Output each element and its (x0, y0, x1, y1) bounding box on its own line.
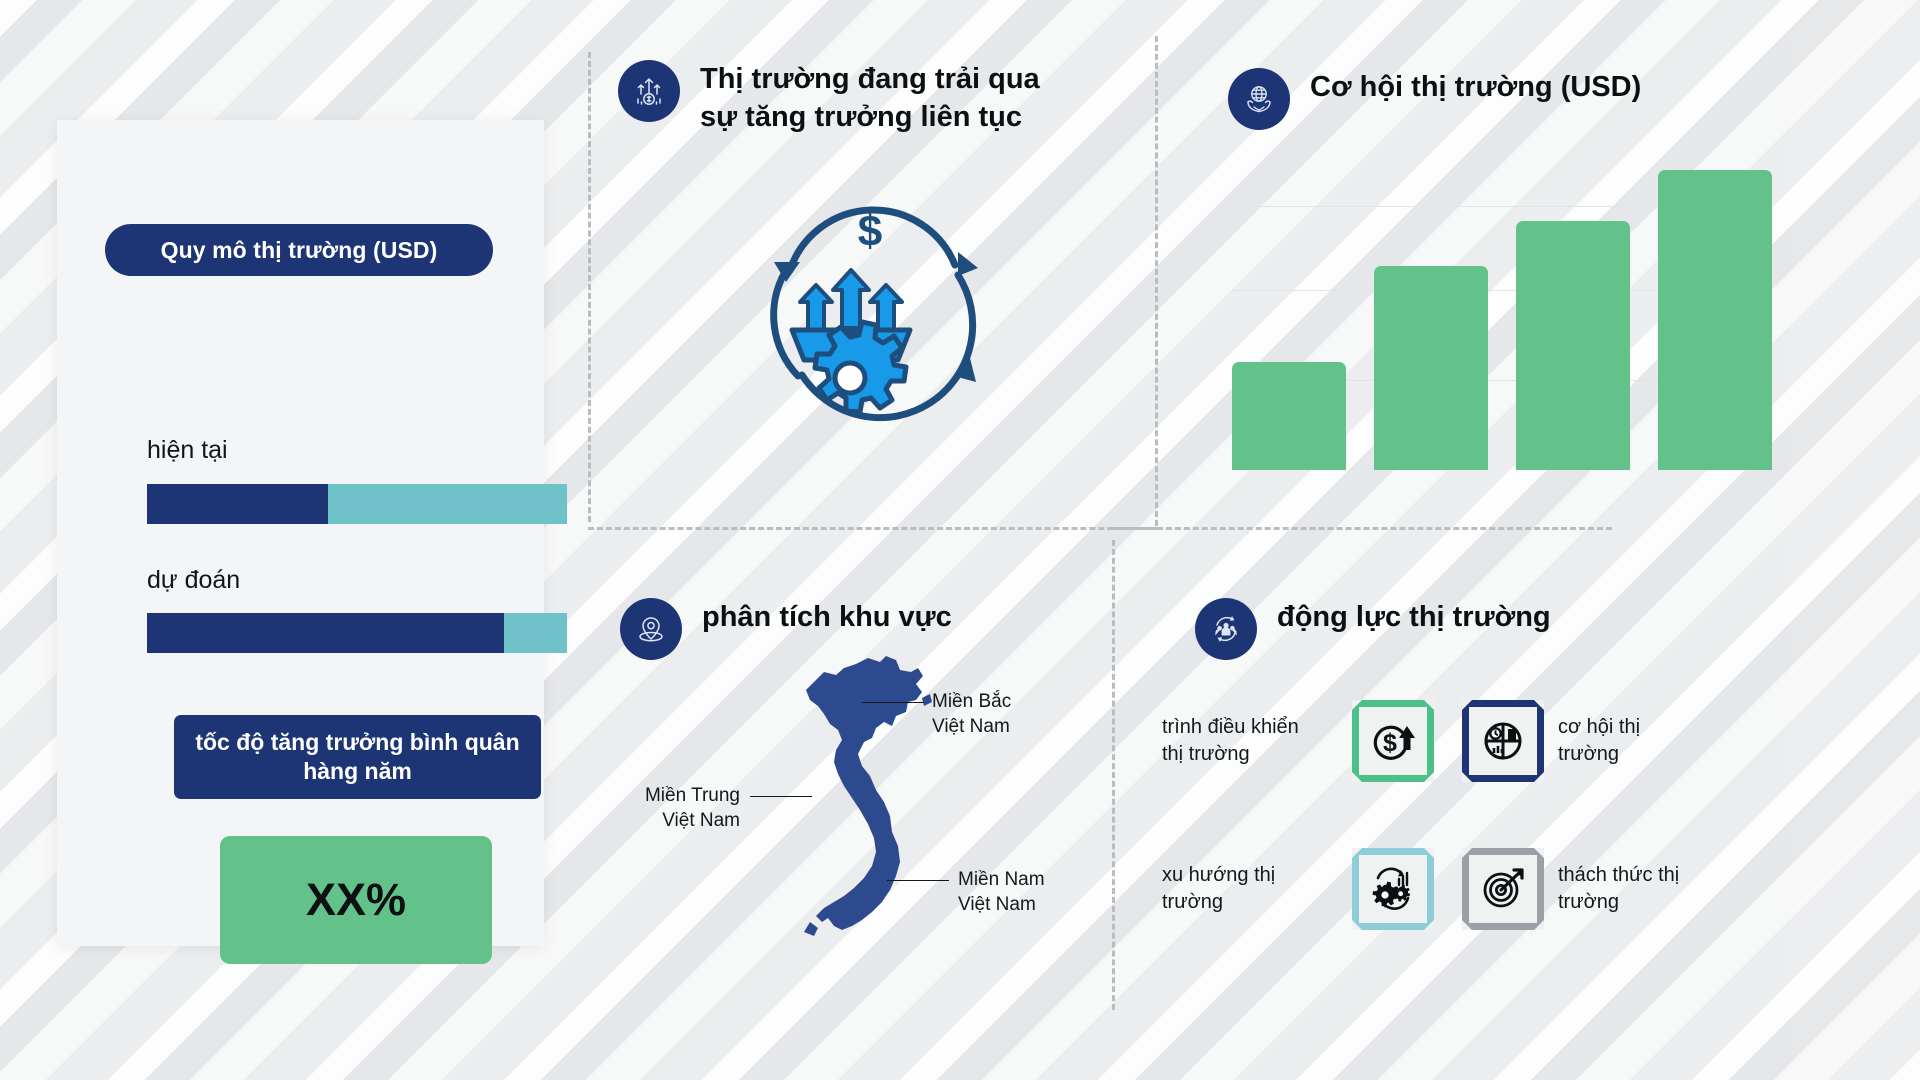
divider-horizontal-left (588, 527, 1158, 530)
bar-label-forecast: dự đoán (147, 566, 240, 595)
cagr-value-box: XX% (220, 836, 492, 964)
region-map-block: Miền Bắc Việt Nam Miền Trung Việt Nam Mi… (610, 650, 1130, 960)
dollar-up-arrow-icon[interactable]: $ (1352, 700, 1434, 782)
divider-vertical-right (1155, 36, 1158, 526)
map-label-north: Miền Bắc Việt Nam (932, 690, 1011, 739)
map-label-north-line1: Miền Bắc (932, 690, 1011, 715)
growth-title-line-1: Thị trường đang trải qua (700, 60, 1040, 98)
gears-analytics-icon[interactable] (1352, 848, 1434, 930)
chart-bar (1374, 266, 1488, 470)
globe-in-hands-icon (1228, 68, 1290, 130)
driver-label-line2: trường (1558, 889, 1734, 916)
map-label-central-line1: Miền Trung (612, 784, 740, 809)
region-section-title: phân tích khu vực (702, 598, 952, 636)
people-cycle-icon (1195, 598, 1257, 660)
driver-label-line2: thị trường (1162, 741, 1338, 768)
divider-horizontal-right (1112, 527, 1612, 530)
driver-label-market-challenges: thách thức thị trường (1558, 862, 1734, 916)
map-label-south: Miền Nam Việt Nam (958, 868, 1045, 917)
map-leader-north (862, 702, 924, 703)
driver-label-line2: trường (1162, 889, 1338, 916)
map-label-central-line2: Việt Nam (612, 809, 740, 834)
progress-bar-forecast (147, 613, 567, 653)
svg-text:$: $ (858, 207, 882, 256)
pie-chart-clock-icon[interactable] (1462, 700, 1544, 782)
drivers-section-header: động lực thị trường (1195, 598, 1551, 660)
drivers-section-title: động lực thị trường (1277, 598, 1551, 636)
opportunity-section-title: Cơ hội thị trường (USD) (1310, 68, 1641, 106)
market-drivers-grid: trình điều khiển thị trường $ cơ hội (1162, 700, 1822, 950)
map-label-south-line1: Miền Nam (958, 868, 1045, 893)
bar-label-current: hiện tại (147, 436, 228, 465)
chart-bars-group (1232, 170, 1772, 470)
drivers-row-2: xu hướng thị trường (1162, 848, 1734, 930)
market-size-pill-title: Quy mô thị trường (USD) (105, 224, 493, 276)
growth-section-header: Thị trường đang trải qua sự tăng trưởng … (618, 60, 1040, 137)
progress-bar-forecast-fill (147, 613, 504, 653)
map-leader-south (887, 880, 949, 881)
map-label-central: Miền Trung Việt Nam (612, 784, 740, 833)
progress-bar-current (147, 484, 567, 524)
map-label-south-line2: Việt Nam (958, 893, 1045, 918)
circular-arrows-gear-growth-icon: $ (730, 190, 1010, 440)
growth-section-title: Thị trường đang trải qua sự tăng trưởng … (700, 60, 1040, 137)
driver-label-line1: xu hướng thị (1162, 862, 1338, 889)
driver-label-line1: cơ hội thị (1558, 714, 1734, 741)
target-arrow-icon[interactable] (1462, 848, 1544, 930)
map-leader-central (750, 796, 812, 797)
chart-bar (1232, 362, 1346, 470)
market-opportunity-bar-chart (1232, 170, 1772, 470)
chart-bar (1516, 221, 1630, 470)
opportunity-section-header: Cơ hội thị trường (USD) (1228, 68, 1641, 130)
driver-label-market-opportunity: cơ hội thị trường (1558, 714, 1734, 768)
driver-label-line2: trường (1558, 741, 1734, 768)
driver-label-line1: trình điều khiển (1162, 714, 1338, 741)
svg-text:$: $ (1383, 729, 1397, 757)
growth-arrows-coin-icon (618, 60, 680, 122)
market-size-panel: Quy mô thị trường (USD) hiện tại dự đoán… (57, 120, 544, 946)
chart-bar (1658, 170, 1772, 470)
divider-vertical-left (588, 52, 591, 522)
driver-label-market-drivers: trình điều khiển thị trường (1162, 714, 1338, 768)
map-label-north-line2: Việt Nam (932, 715, 1011, 740)
drivers-row-1: trình điều khiển thị trường $ cơ hội (1162, 700, 1734, 782)
progress-bar-current-fill (147, 484, 328, 524)
driver-label-line1: thách thức thị (1558, 862, 1734, 889)
growth-title-line-2: sự tăng trưởng liên tục (700, 98, 1040, 136)
cagr-label-box: tốc độ tăng trưởng bình quân hàng năm (174, 715, 541, 799)
driver-label-market-trends: xu hướng thị trường (1162, 862, 1338, 916)
